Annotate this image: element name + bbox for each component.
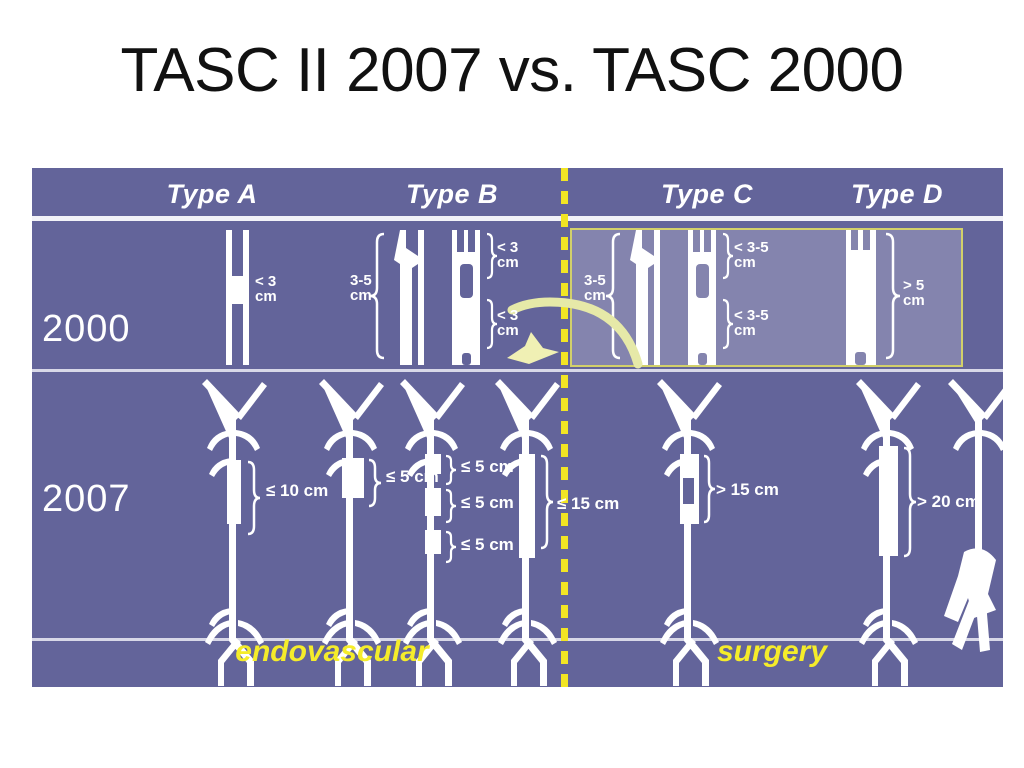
- vessel-2007-type-d-2: [944, 379, 1013, 652]
- lesion-2000-type-b-right: [452, 230, 480, 365]
- measurement-2007-type-b-2: ≤ 5 cm: [461, 494, 514, 511]
- measurement-2007-type-b-3: ≤ 5 cm: [461, 536, 514, 553]
- measurement-2007-type-b-1: ≤ 5 cm: [461, 458, 514, 475]
- measurement-2007-type-a-2: ≤ 5 cm: [386, 468, 439, 485]
- reclassification-arrow: [507, 302, 638, 364]
- treatment-label-endovascular: endovascular: [212, 635, 452, 669]
- measurement-2007-type-d-1: > 20 cm: [917, 493, 980, 510]
- measurement-2007-type-c-1: > 15 cm: [716, 481, 779, 498]
- measurement-2000-type-c-brace: 3-5 cm: [584, 273, 606, 303]
- measurement-2007-type-b-4: ≤ 15 cm: [557, 495, 619, 512]
- tasc-comparison-figure: Type A Type B Type C Type D 2000 2007: [32, 168, 1003, 687]
- lesion-2000-type-c-right: [688, 230, 716, 365]
- treatment-label-surgery: surgery: [652, 635, 892, 669]
- measurement-2000-type-c-2: < 3-5 cm: [734, 308, 769, 338]
- vessel-2007-type-b-2: [495, 379, 560, 686]
- measurement-2000-type-b-brace: 3-5 cm: [350, 273, 372, 303]
- measurement-2000-type-a-1: < 3 cm: [255, 274, 277, 304]
- lesion-2000-type-a: [226, 230, 249, 365]
- measurement-2000-type-d-1: > 5 cm: [903, 278, 925, 308]
- measurement-2000-type-b-1: < 3 cm: [497, 240, 519, 270]
- lesion-2000-type-b-left: [394, 230, 424, 365]
- measurement-2000-type-c-1: < 3-5 cm: [734, 240, 769, 270]
- measurement-2000-type-b-2: < 3 cm: [497, 308, 519, 338]
- page-title: TASC II 2007 vs. TASC 2000: [0, 36, 1024, 106]
- lesion-2000-type-d: [846, 230, 876, 365]
- measurement-2007-type-a-1: ≤ 10 cm: [266, 482, 328, 499]
